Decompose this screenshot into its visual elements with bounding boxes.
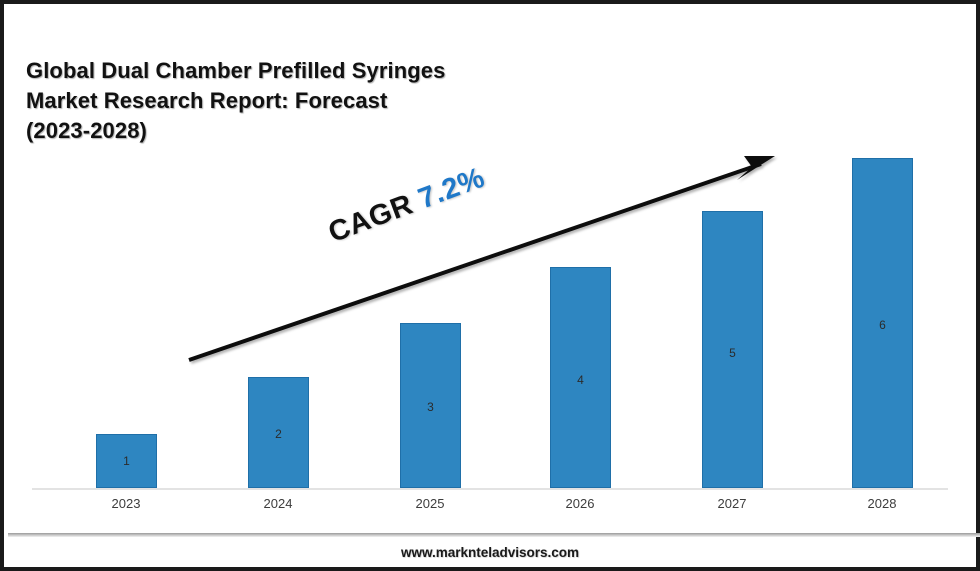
x-tick-2027: 2027 [697, 496, 767, 511]
chart-frame: Global Dual Chamber Prefilled Syringes M… [0, 0, 980, 571]
x-tick-2024: 2024 [243, 496, 313, 511]
bar-value-label-2026: 4 [550, 373, 611, 387]
bar-value-label-2028: 6 [852, 318, 913, 332]
arrow-head [737, 156, 775, 180]
plot-area: 123456 202320242025202620272028 CAGR 7.2… [4, 4, 976, 529]
x-tick-2026: 2026 [545, 496, 615, 511]
cagr-annotation: CAGR 7.2% [324, 162, 489, 250]
x-axis-line [32, 488, 948, 490]
x-tick-2028: 2028 [847, 496, 917, 511]
cagr-value: 7.2% [414, 162, 489, 216]
x-tick-2023: 2023 [91, 496, 161, 511]
cagr-label: CAGR [324, 185, 425, 249]
bar-value-label-2025: 3 [400, 400, 461, 414]
bar-value-label-2027: 5 [702, 346, 763, 360]
x-tick-2025: 2025 [395, 496, 465, 511]
bar-value-label-2024: 2 [248, 427, 309, 441]
footer-url[interactable]: www.marknteladvisors.com [4, 545, 976, 560]
footer-divider [8, 533, 980, 537]
bar-value-label-2023: 1 [96, 454, 157, 468]
